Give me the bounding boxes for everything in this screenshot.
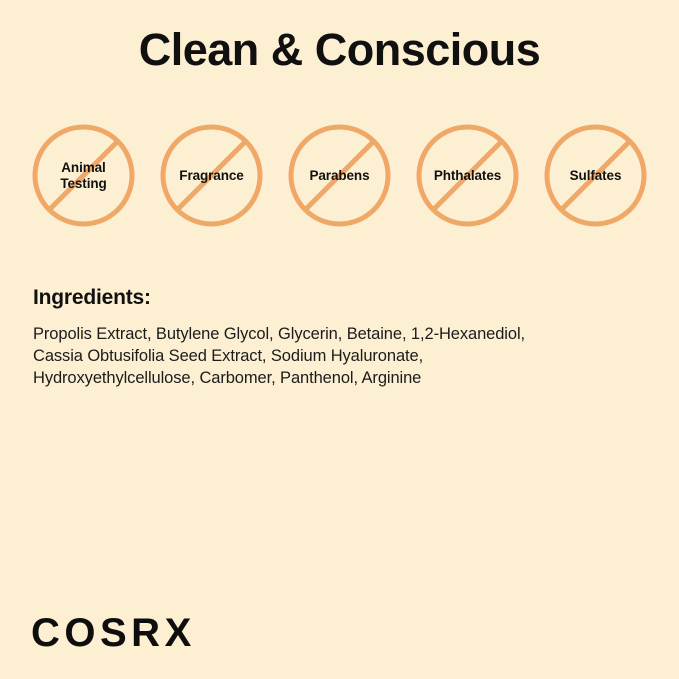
- free-from-badge: Fragrance: [160, 124, 263, 227]
- brand-logo: COSRX: [31, 613, 196, 653]
- free-from-badge: Parabens: [288, 124, 391, 227]
- product-info-page: Clean & Conscious Animal Testing Fragran…: [0, 0, 679, 679]
- ingredients-line: Propolis Extract, Butylene Glycol, Glyce…: [33, 323, 653, 345]
- free-from-badge-label: Fragrance: [147, 168, 276, 183]
- free-from-badge: Sulfates: [544, 124, 647, 227]
- ingredients-heading: Ingredients:: [33, 286, 151, 310]
- ingredients-line: Cassia Obtusifolia Seed Extract, Sodium …: [33, 345, 653, 367]
- free-from-badge: Phthalates: [416, 124, 519, 227]
- page-title: Clean & Conscious: [0, 24, 679, 76]
- ingredients-line: Hydroxyethylcellulose, Carbomer, Panthen…: [33, 367, 653, 389]
- free-from-badge-label: Parabens: [275, 168, 404, 183]
- free-from-badge-label: Phthalates: [403, 168, 532, 183]
- free-from-badge-label: Sulfates: [531, 168, 660, 183]
- free-from-badge-row: Animal Testing Fragrance Parabens Phthal…: [32, 124, 647, 227]
- free-from-badge-label: Animal Testing: [19, 160, 148, 190]
- ingredients-list: Propolis Extract, Butylene Glycol, Glyce…: [33, 323, 653, 389]
- free-from-badge: Animal Testing: [32, 124, 135, 227]
